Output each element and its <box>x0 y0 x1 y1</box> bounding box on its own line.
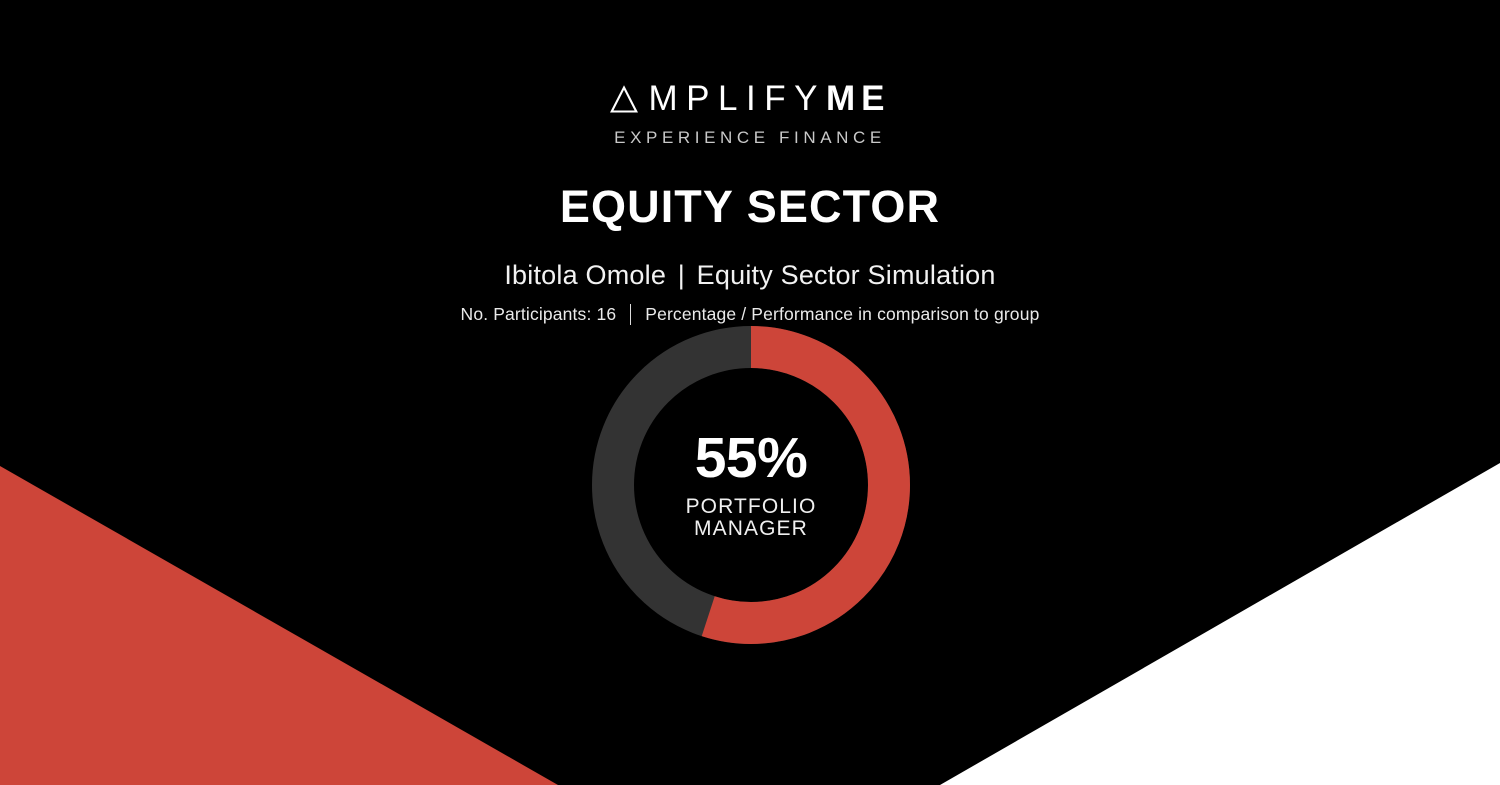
subtitle-simulation-name: Equity Sector Simulation <box>697 260 996 290</box>
logo-tagline: EXPERIENCE FINANCE <box>0 129 1500 146</box>
meta-divider <box>630 304 631 325</box>
participants-count: No. Participants: 16 <box>461 304 617 325</box>
logo-wordmark: MPLIFY ME <box>610 78 891 118</box>
meta-row: No. Participants: 16 Percentage / Perfor… <box>0 304 1500 325</box>
logo-name-light: MPLIFY <box>649 81 826 116</box>
subtitle: Ibitola Omole | Equity Sector Simulation <box>0 260 1500 291</box>
amplifyme-logo: MPLIFY ME EXPERIENCE FINANCE <box>0 78 1500 146</box>
performance-donut-chart: 55% PORTFOLIO MANAGER <box>592 326 910 644</box>
result-card: MPLIFY ME EXPERIENCE FINANCE EQUITY SECT… <box>0 0 1500 785</box>
page-title: EQUITY SECTOR <box>0 183 1500 230</box>
logo-name-bold: ME <box>826 81 891 116</box>
subtitle-participant-name: Ibitola Omole <box>504 260 666 290</box>
donut-svg <box>592 326 910 644</box>
subtitle-separator: | <box>674 260 689 290</box>
metric-note: Percentage / Performance in comparison t… <box>645 304 1039 325</box>
red-corner-wedge <box>0 466 558 785</box>
white-corner-wedge <box>940 463 1500 785</box>
card-header: MPLIFY ME EXPERIENCE FINANCE EQUITY SECT… <box>0 0 1500 325</box>
triangle-a-icon <box>610 85 638 114</box>
